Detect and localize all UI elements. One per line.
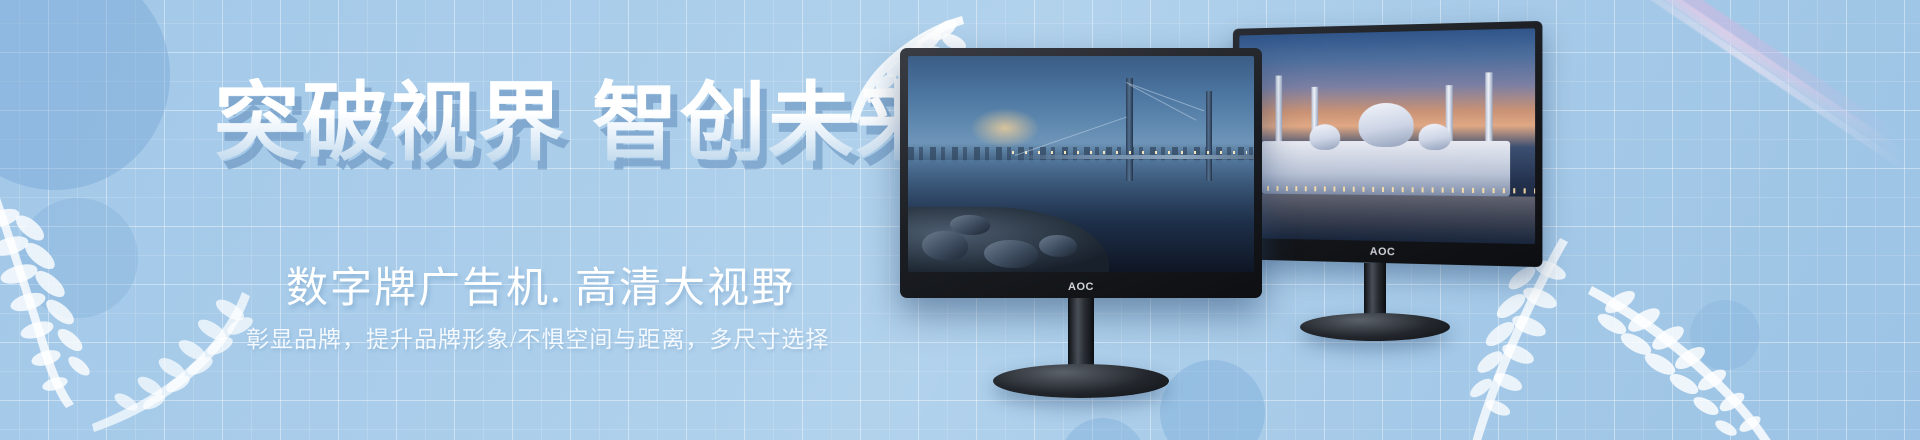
tagline: 彰显品牌，提升品牌形象/不惧空间与距离，多尺寸选择 [246, 320, 829, 354]
brand-logo-back: AOC [1370, 246, 1395, 259]
page-title: 突破视界 智创未来 [214, 78, 944, 168]
monitor-front-bezel: AOC [900, 48, 1262, 298]
monitor-front: AOC [900, 48, 1262, 298]
monitor-front-screen [908, 56, 1254, 272]
monitor-back-neck [1364, 263, 1386, 317]
product-monitors: AOC [880, 0, 1920, 440]
promo-banner: 突破视界 智创未来 数字牌广告机. 高清大视野 彰显品牌，提升品牌形象/不惧空间… [0, 0, 1920, 440]
monitor-back-bezel: AOC [1233, 21, 1543, 267]
subtitle: 数字牌广告机. 高清大视野 [286, 254, 795, 315]
headline-block: 突破视界 智创未来 数字牌广告机. 高清大视野 彰显品牌，提升品牌形象/不惧空间… [0, 0, 900, 440]
monitor-back-screen [1239, 28, 1535, 244]
monitor-back: AOC [1233, 21, 1543, 267]
bridge-scene [908, 56, 1254, 272]
monitor-front-neck [1068, 298, 1094, 370]
monitor-front-base [993, 364, 1169, 398]
monitor-back-base [1300, 313, 1450, 341]
mosque-scene [1239, 28, 1535, 244]
brand-logo-front: AOC [1068, 281, 1094, 293]
